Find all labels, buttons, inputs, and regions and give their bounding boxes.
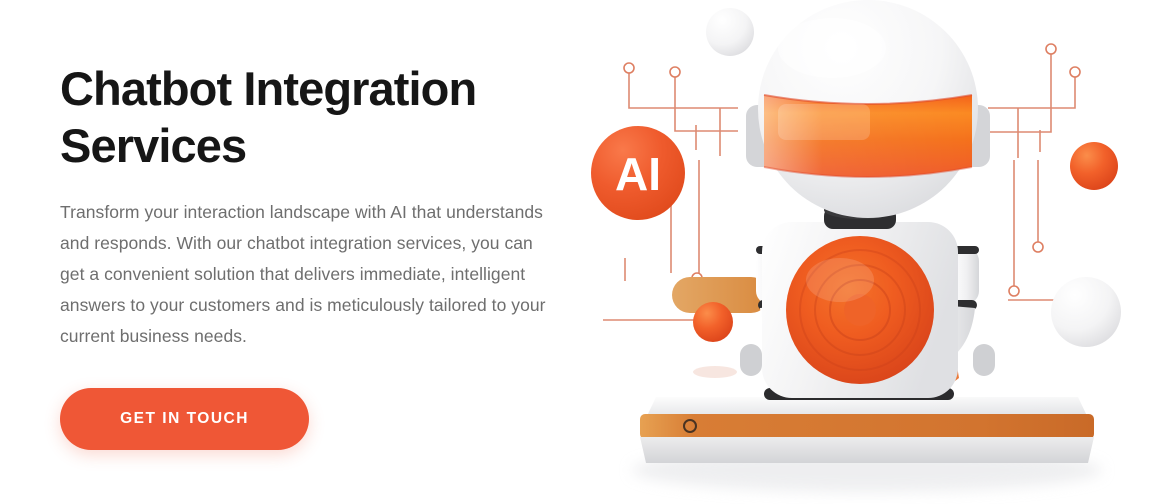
ai-robot-illustration: AI [578, 0, 1157, 504]
ai-badge: AI [591, 126, 685, 220]
ai-badge-label: AI [615, 148, 661, 200]
decor-sphere-orange-left [693, 302, 733, 342]
robot-chest-speaker [786, 236, 934, 384]
decor-sphere-white-bottom [1051, 277, 1121, 347]
hero-copy-column: Chatbot Integration Services Transform y… [60, 0, 580, 504]
robot-visor [764, 95, 972, 177]
decor-sphere-orange-right [1070, 142, 1118, 190]
hero-section: Chatbot Integration Services Transform y… [0, 0, 1157, 504]
robot-head [746, 0, 990, 218]
decor-sphere-white-top [706, 8, 754, 56]
hero-description: Transform your interaction landscape wit… [60, 197, 560, 352]
get-in-touch-button[interactable]: GET IN TOUCH [60, 388, 309, 450]
robot-base-platform [632, 397, 1102, 492]
robot-body [762, 222, 958, 400]
page-title: Chatbot Integration Services [60, 60, 530, 174]
